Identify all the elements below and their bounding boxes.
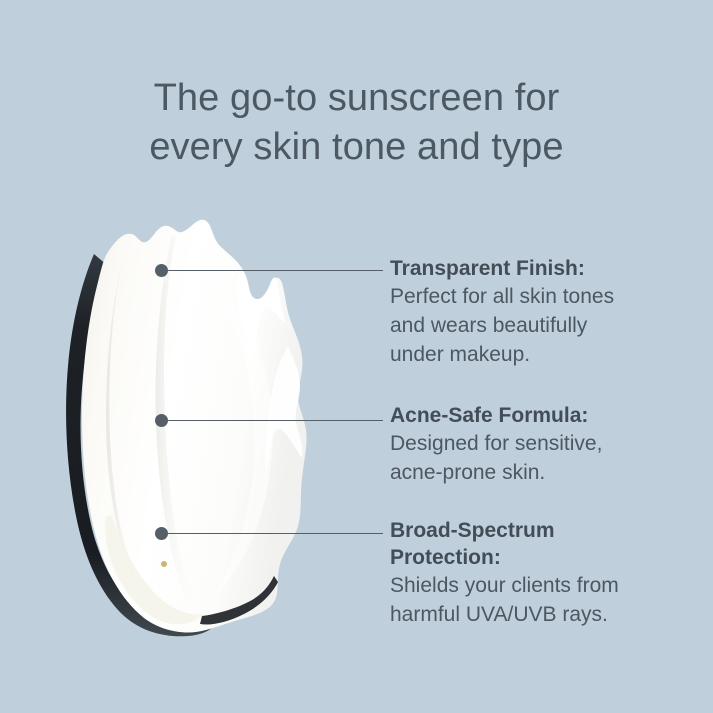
swatch-speck	[161, 561, 167, 567]
callout-body-acne-safe-formula: Designed for sensitive, acne-prone skin.	[390, 429, 690, 487]
callout-acne-safe-formula: Acne-Safe Formula: Designed for sensitiv…	[390, 402, 690, 487]
callout-broad-spectrum-protection: Broad-Spectrum Protection: Shields your …	[390, 517, 690, 629]
callout-rule-broad-spectrum-protection	[165, 533, 383, 534]
page-title: The go-to sunscreen for every skin tone …	[0, 74, 713, 172]
callout-rule-acne-safe-formula	[165, 420, 383, 421]
callout-body-transparent-finish: Perfect for all skin tones and wears bea…	[390, 282, 690, 369]
callout-rule-transparent-finish	[165, 270, 383, 271]
callout-transparent-finish: Transparent Finish: Perfect for all skin…	[390, 255, 690, 369]
callout-title-transparent-finish: Transparent Finish:	[390, 255, 690, 282]
callout-title-acne-safe-formula: Acne-Safe Formula:	[390, 402, 690, 429]
infographic-canvas: The go-to sunscreen for every skin tone …	[0, 0, 713, 713]
sunscreen-cream-swatch	[52, 216, 322, 646]
callout-title-broad-spectrum-protection: Broad-Spectrum Protection:	[390, 517, 690, 571]
callout-body-broad-spectrum-protection: Shields your clients from harmful UVA/UV…	[390, 571, 690, 629]
